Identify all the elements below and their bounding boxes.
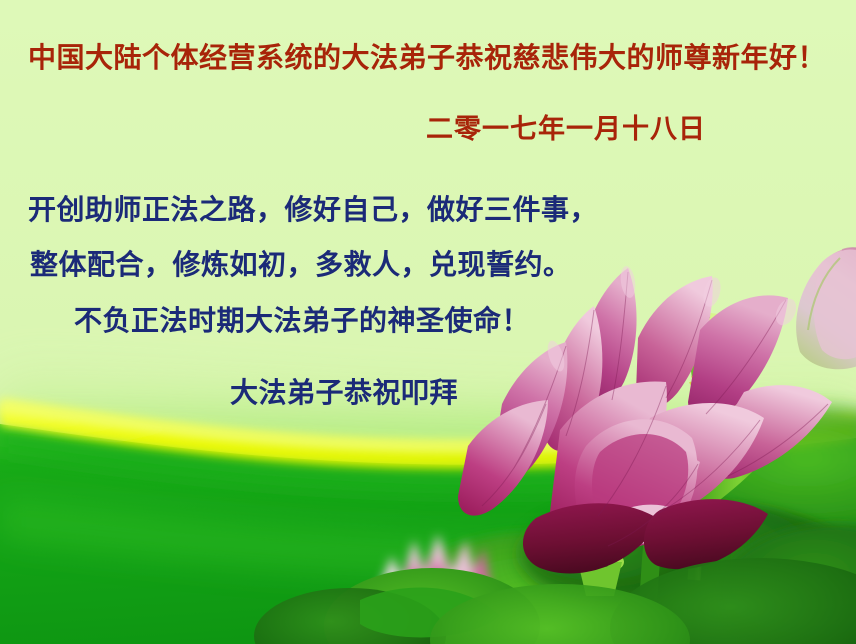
message-signature: 大法弟子恭祝叩拜 <box>230 375 458 411</box>
message-line-2: 整体配合，修炼如初，多救人，兑现誓约。 <box>30 247 572 283</box>
message-line-3: 不负正法时期大法弟子的神圣使命！ <box>74 303 530 339</box>
card-title: 中国大陆个体经营系统的大法弟子恭祝慈悲伟大的师尊新年好！ <box>28 40 828 76</box>
message-line-1: 开创助师正法之路，修好自己，做好三件事， <box>28 192 598 228</box>
card-date: 二零一七年一月十八日 <box>0 112 706 146</box>
card-text-layer: 中国大陆个体经营系统的大法弟子恭祝慈悲伟大的师尊新年好！ 二零一七年一月十八日 … <box>0 0 856 644</box>
greeting-card: 中国大陆个体经营系统的大法弟子恭祝慈悲伟大的师尊新年好！ 二零一七年一月十八日 … <box>0 0 856 644</box>
